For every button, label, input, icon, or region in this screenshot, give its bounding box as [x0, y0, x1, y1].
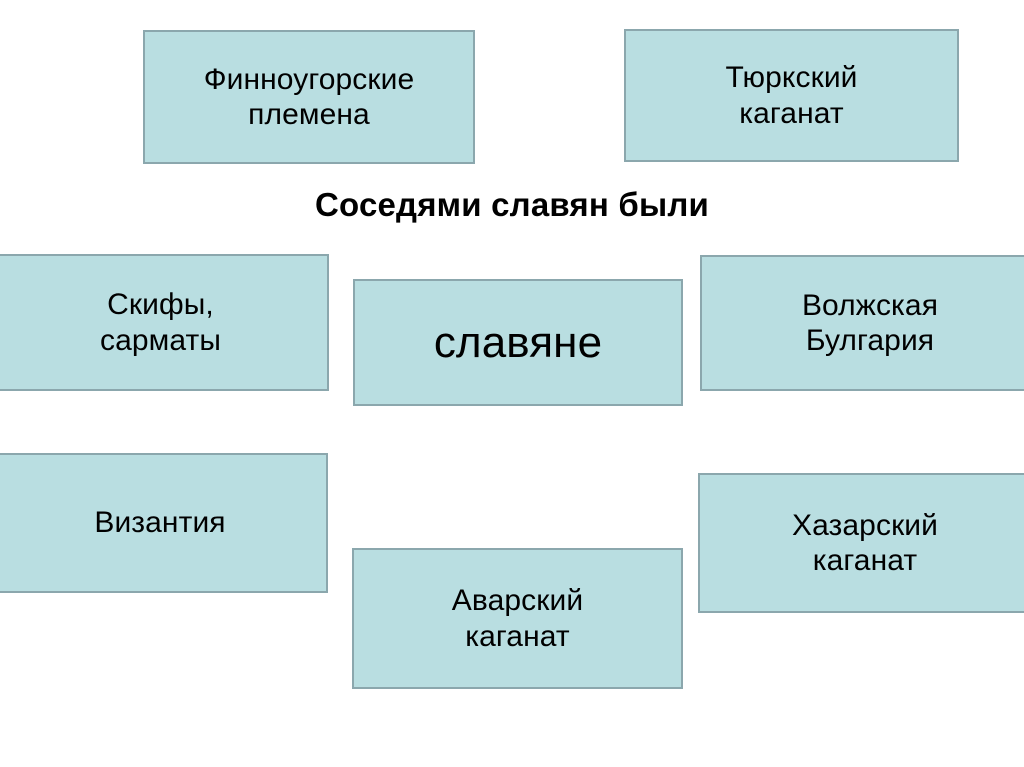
node-avar-khaganate[interactable]: Аварский каганат: [352, 548, 683, 689]
node-label: Византия: [94, 505, 225, 540]
node-label: Финноугорские племена: [204, 62, 415, 133]
node-slavs[interactable]: славяне: [353, 279, 683, 406]
slide-canvas: Финноугорские племена Тюркский каганат С…: [0, 0, 1024, 767]
node-label: Хазарский каганат: [792, 508, 938, 579]
node-turkic-khaganate[interactable]: Тюркский каганат: [624, 29, 959, 162]
node-label: Скифы, сарматы: [100, 287, 221, 358]
node-byzantium[interactable]: Византия: [0, 453, 328, 593]
node-label: Аварский каганат: [452, 583, 583, 654]
node-label: Тюркский каганат: [725, 60, 857, 131]
node-label: славяне: [434, 317, 602, 369]
node-volga-bulgaria[interactable]: Волжская Булгария: [700, 255, 1024, 391]
node-khazar-khaganate[interactable]: Хазарский каганат: [698, 473, 1024, 613]
node-label: Волжская Булгария: [802, 288, 938, 359]
node-scythians-sarmatians[interactable]: Скифы, сарматы: [0, 254, 329, 391]
node-finno-ugric-tribes[interactable]: Финноугорские племена: [143, 30, 475, 164]
diagram-title: Соседями славян были: [0, 186, 1024, 224]
